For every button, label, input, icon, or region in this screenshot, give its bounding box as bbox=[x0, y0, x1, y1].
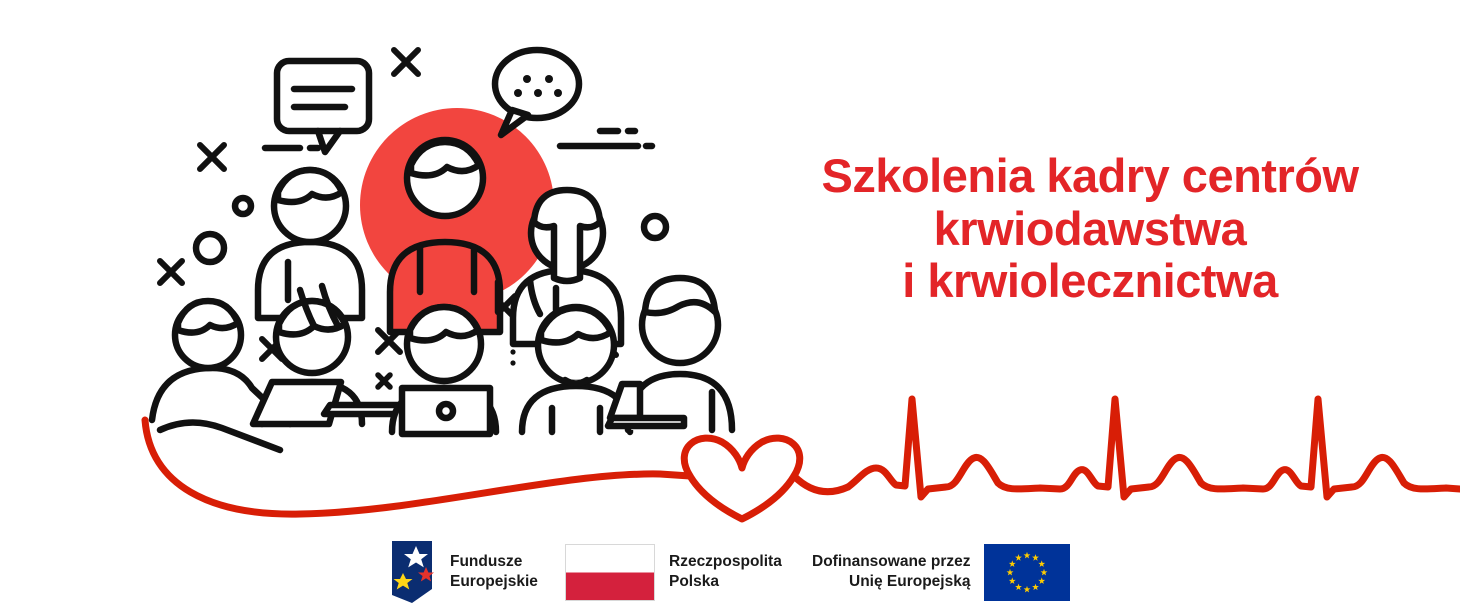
funding-logo-bar: Fundusze Europejskie Rzeczpospolita Pols… bbox=[0, 536, 1460, 616]
logo-rzeczpospolita-polska: Rzeczpospolita Polska bbox=[565, 536, 782, 608]
fe-label: Fundusze Europejskie bbox=[450, 552, 538, 593]
rp-label-line1: Rzeczpospolita bbox=[669, 552, 782, 572]
page-title: Szkolenia kadry centrów krwiodawstwa i k… bbox=[780, 150, 1400, 308]
ue-label-line2: Unię Europejską bbox=[812, 572, 970, 592]
logo-unia-europejska: Dofinansowane przez Unię Europejską bbox=[812, 536, 1070, 608]
logo-fundusze-europejskie: Fundusze Europejskie bbox=[386, 536, 538, 608]
training-banner: Szkolenia kadry centrów krwiodawstwa i k… bbox=[0, 0, 1460, 616]
person-left bbox=[258, 170, 362, 318]
fe-label-line2: Europejskie bbox=[450, 572, 538, 592]
ue-label: Dofinansowane przez Unię Europejską bbox=[812, 552, 970, 593]
fe-stars-icon bbox=[386, 537, 438, 607]
person-right-end bbox=[628, 278, 732, 430]
ue-label-line1: Dofinansowane przez bbox=[812, 552, 970, 572]
laptop-center-icon bbox=[402, 388, 490, 434]
person-laptop-left bbox=[152, 301, 290, 450]
fe-label-line1: Fundusze bbox=[450, 552, 538, 572]
rp-label-line2: Polska bbox=[669, 572, 782, 592]
rp-label: Rzeczpospolita Polska bbox=[669, 552, 782, 593]
speech-bubble-lines-icon bbox=[277, 61, 369, 152]
polish-flag-icon bbox=[565, 544, 655, 601]
title-line-1: Szkolenia kadry centrów bbox=[780, 150, 1400, 203]
person-center-head bbox=[407, 140, 483, 216]
title-line-2: krwiodawstwa bbox=[780, 203, 1400, 256]
eu-flag-icon bbox=[984, 544, 1070, 601]
title-line-3: i krwiolecznictwa bbox=[780, 255, 1400, 308]
